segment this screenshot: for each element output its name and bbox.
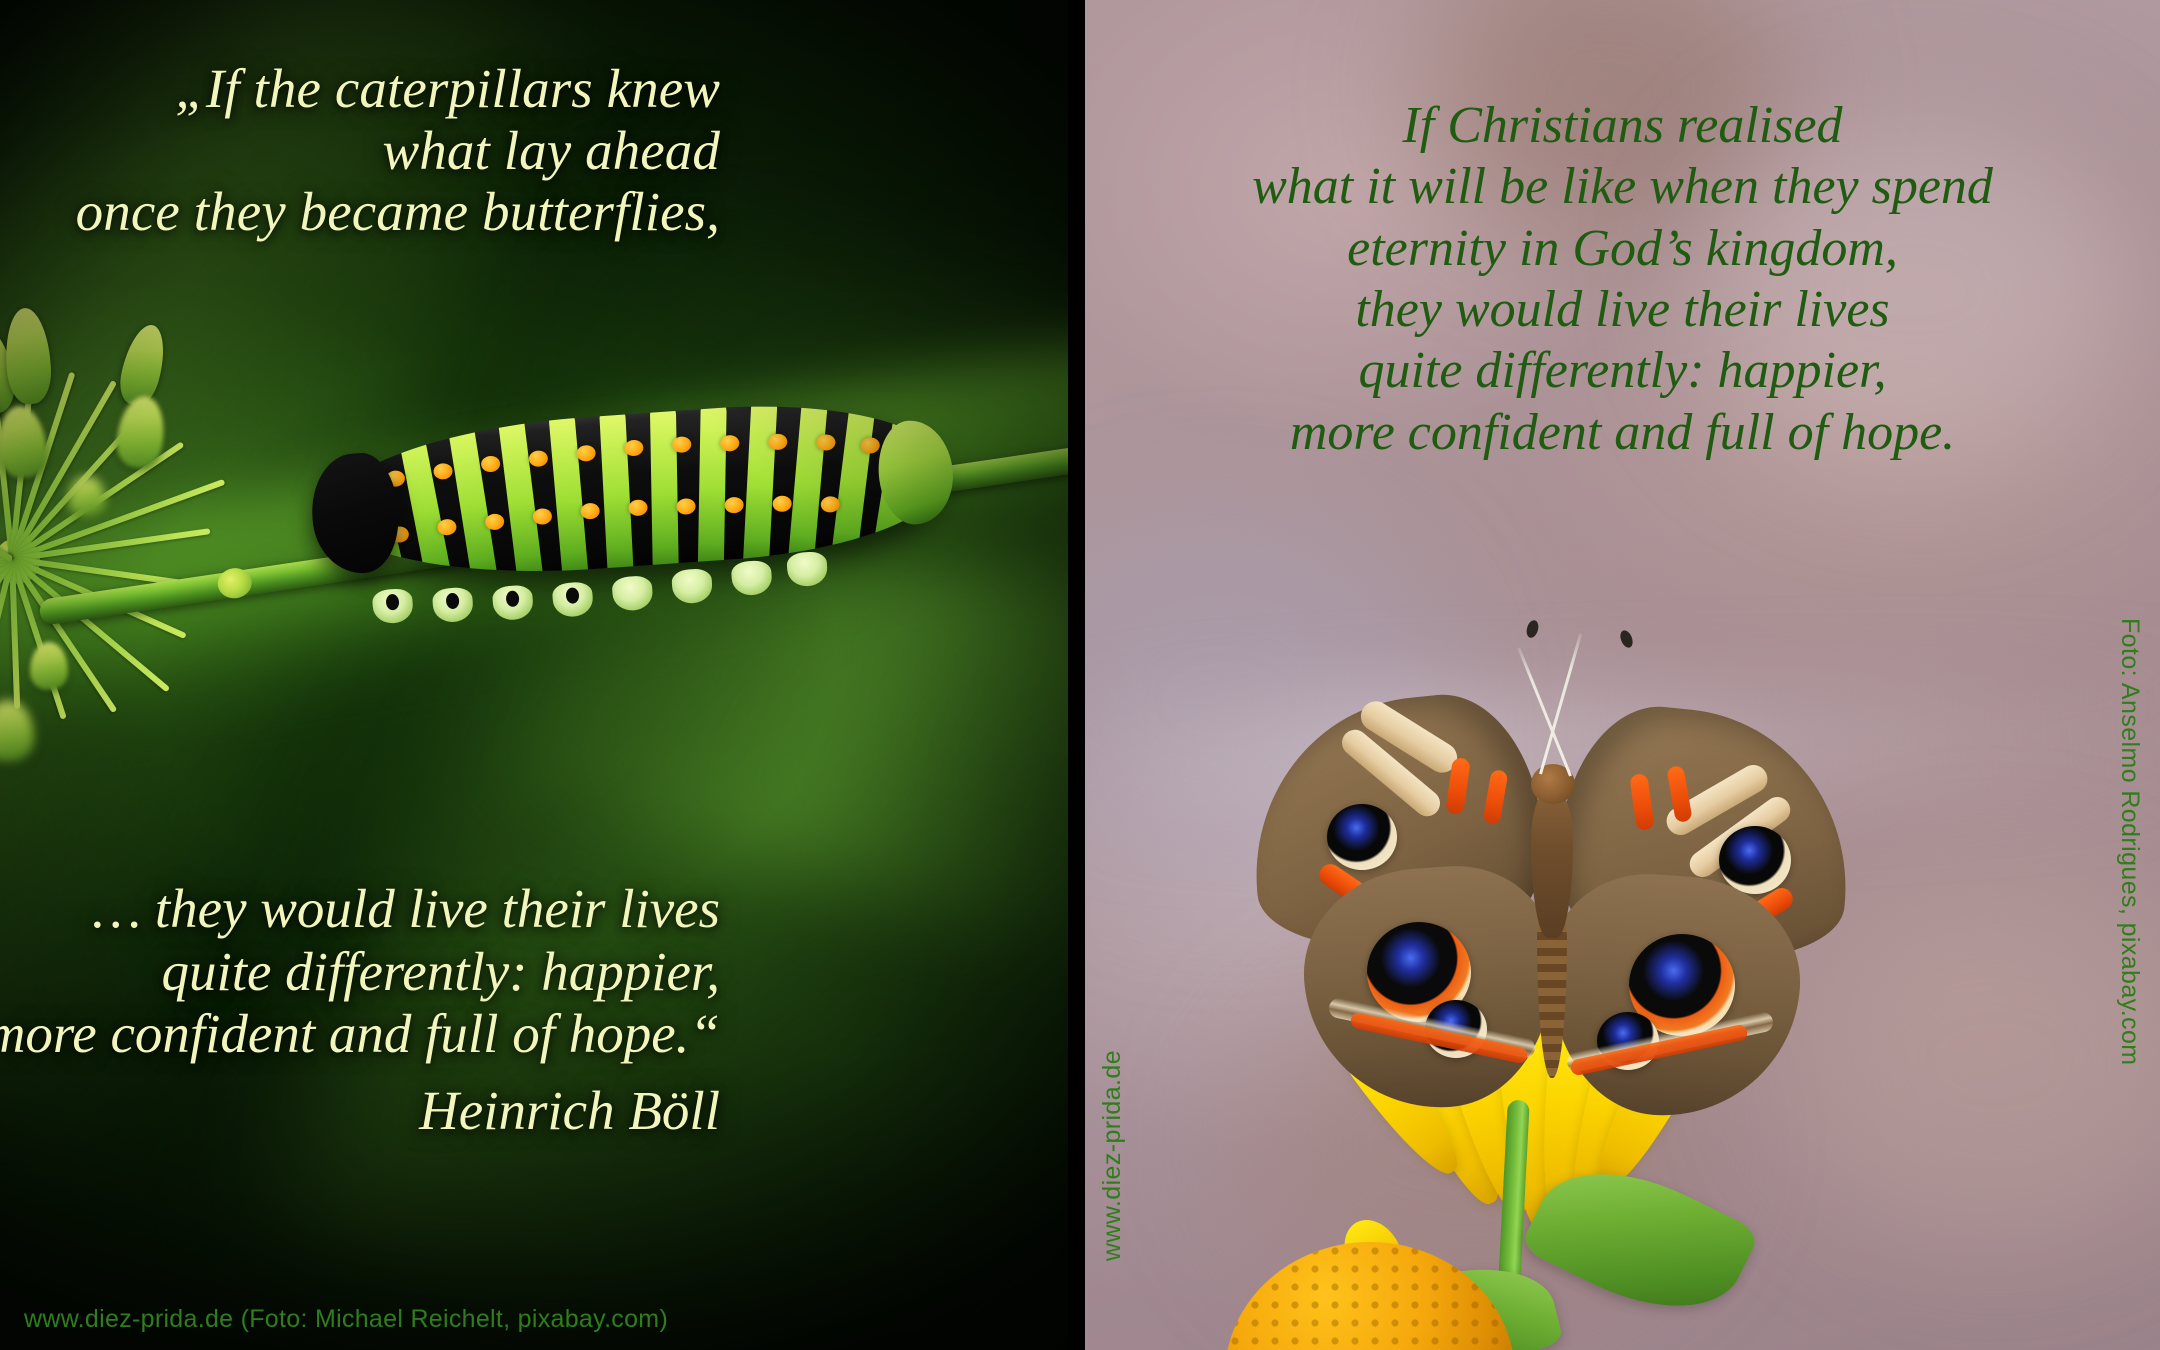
- left-quote-top: „If the caterpillars knew what lay ahead…: [0, 58, 720, 243]
- right-quote: If Christians realised what it will be l…: [1123, 95, 2123, 463]
- quote-line: eternity in God’s kingdom,: [1123, 218, 2123, 279]
- second-flower-head: [1225, 1242, 1515, 1350]
- left-quote-bottom: … they would live their lives quite diff…: [0, 878, 720, 1143]
- butterfly-thorax: [1531, 788, 1573, 938]
- quote-line: If Christians realised: [1123, 95, 2123, 156]
- quote-attribution: Heinrich Böll: [0, 1080, 720, 1143]
- right-photo-panel: If Christians realised what it will be l…: [1085, 0, 2160, 1350]
- left-photo-credit: www.diez-prida.de (Foto: Michael Reichel…: [24, 1305, 668, 1334]
- right-photo-credit: Foto: Anselmo Rodrigues, pixabay.com: [2115, 618, 2144, 1065]
- quote-line: more confident and full of hope.: [1123, 402, 2123, 463]
- quote-line: quite differently: happier,: [1123, 340, 2123, 401]
- panel-divider: [1068, 0, 1085, 1350]
- quote-line: more confident and full of hope.“: [0, 1003, 720, 1066]
- quote-line: quite differently: happier,: [0, 941, 720, 1004]
- poster-canvas: „If the caterpillars knew what lay ahead…: [0, 0, 2160, 1350]
- quote-line: … they would live their lives: [0, 878, 720, 941]
- quote-line: what it will be like when they spend: [1123, 156, 2123, 217]
- buckeye-butterfly: [1243, 700, 1863, 1120]
- quote-line: „If the caterpillars knew: [0, 58, 720, 120]
- website-vertical-label: www.diez-prida.de: [1098, 1050, 1127, 1261]
- quote-line: what lay ahead: [0, 120, 720, 182]
- quote-line: they would live their lives: [1123, 279, 2123, 340]
- left-photo-panel: „If the caterpillars knew what lay ahead…: [0, 0, 1068, 1350]
- quote-line: once they became butterflies,: [0, 181, 720, 243]
